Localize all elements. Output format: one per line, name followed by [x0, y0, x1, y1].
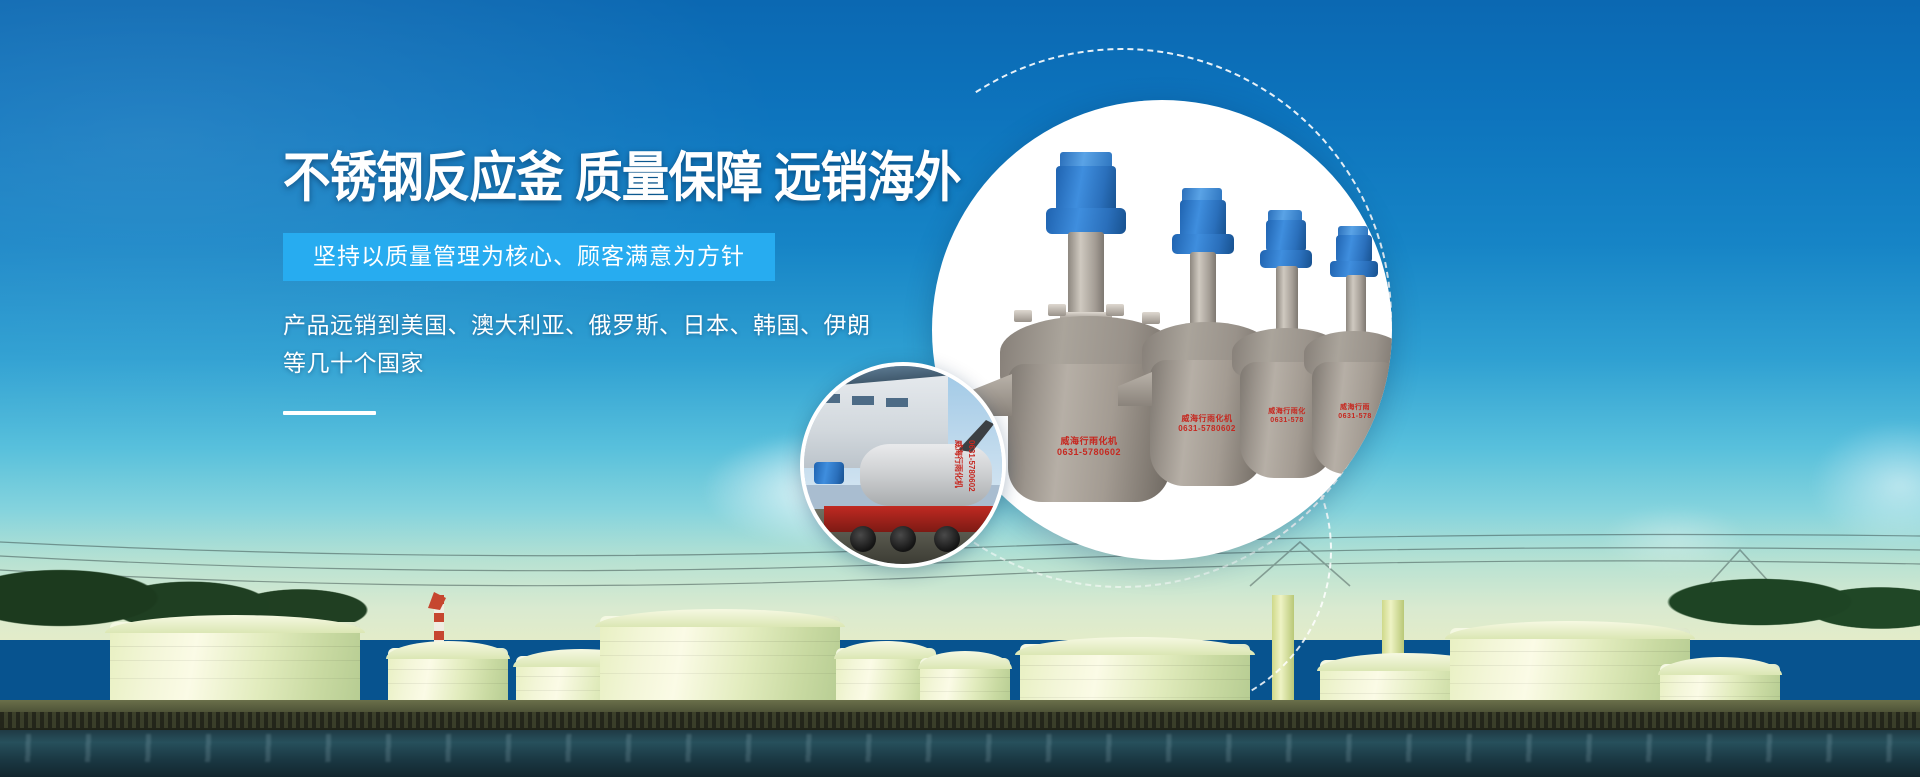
tagline-badge: 坚持以质量管理为核心、顾客满意为方针 — [283, 233, 775, 281]
divider-rule — [283, 411, 376, 415]
storage-tank — [1450, 628, 1690, 710]
vessel-brand-label: 威海行雨 0631-578 — [1312, 404, 1392, 422]
agitator-column — [1190, 252, 1216, 326]
agitator-column — [1276, 266, 1298, 332]
building-window — [818, 394, 840, 403]
facility-photo-circle: 威海行雨化机 0631-5780602 — [800, 362, 1006, 568]
trailer-bed — [824, 506, 1004, 532]
agitator-column — [1068, 232, 1104, 318]
vessel-drive-motor — [814, 462, 844, 484]
drive-motor — [1336, 235, 1372, 263]
gearbox — [1046, 208, 1126, 234]
tower-top-icon — [420, 588, 460, 612]
headline: 不锈钢反应釜 质量保障 远销海外 — [283, 150, 899, 207]
gearbox — [1172, 234, 1234, 254]
vessel-phone-label: 0631-5780602 — [967, 440, 976, 492]
storage-tank — [110, 622, 360, 710]
hero-banner: 不锈钢反应釜 质量保障 远销海外 坚持以质量管理为核心、顾客满意为方针 产品远销… — [0, 0, 1920, 777]
storage-tank — [600, 616, 840, 710]
trailer-wheel — [934, 526, 960, 552]
drive-motor — [1180, 200, 1226, 238]
nozzle-flange — [1014, 310, 1032, 322]
dock-pilings — [0, 712, 1920, 728]
building-window — [886, 398, 908, 407]
nozzle-flange — [1048, 304, 1066, 316]
drive-motor — [1266, 220, 1306, 252]
trailer-wheel — [850, 526, 876, 552]
building-window — [852, 396, 874, 405]
agitator-column — [1346, 275, 1366, 335]
nozzle-flange — [1106, 304, 1124, 316]
water-shimmer — [0, 734, 1920, 762]
vessel-brand-label: 威海行雨化机 — [953, 440, 964, 488]
phone-text: 0631-578 — [1312, 413, 1392, 422]
reactor-vessel: 威海行雨 0631-578 — [1304, 226, 1392, 476]
drive-motor — [1056, 166, 1116, 214]
trailer-wheel — [890, 526, 916, 552]
brand-text: 威海行雨 — [1312, 404, 1392, 413]
